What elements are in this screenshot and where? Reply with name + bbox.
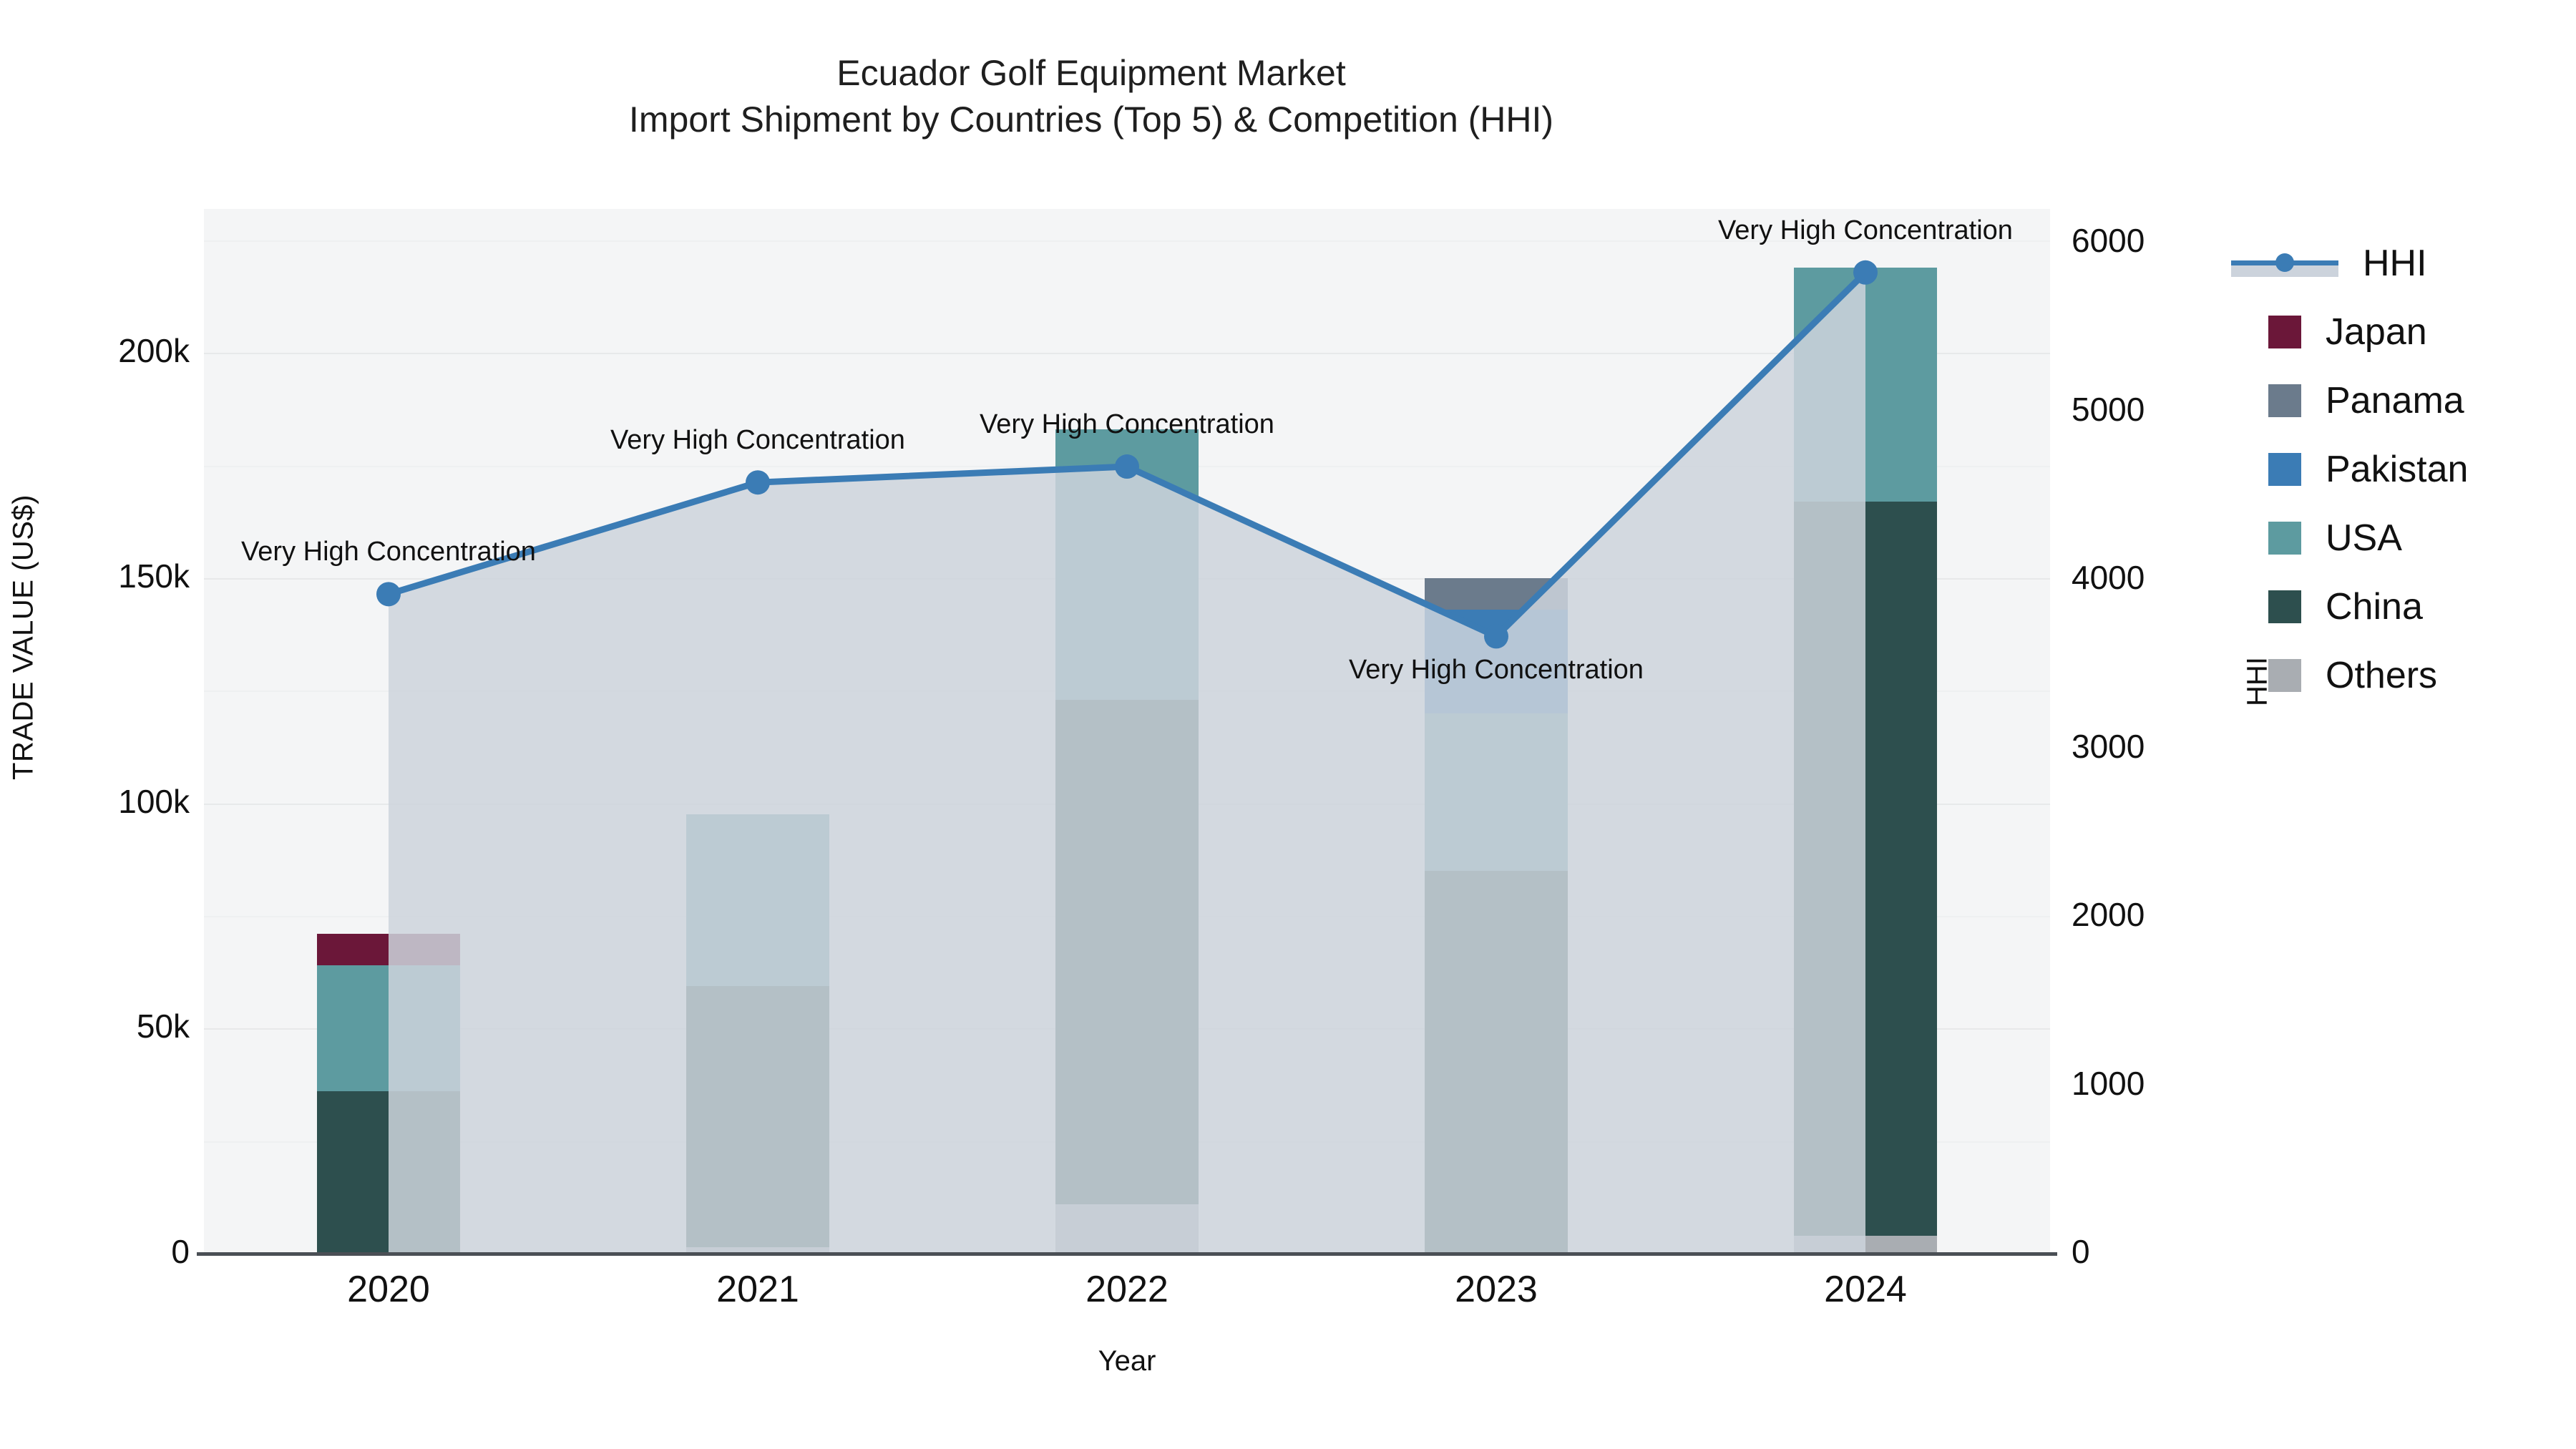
chart-title-line-1: Ecuador Golf Equipment Market	[836, 53, 1345, 93]
legend-color-swatch	[2268, 522, 2301, 555]
y-axis-tick-label: 200k	[0, 331, 190, 370]
legend-color-swatch	[2268, 453, 2301, 486]
y2-axis-tick-label: 0	[2072, 1232, 2286, 1271]
hhi-series-layer	[204, 209, 2050, 1254]
legend-color-swatch	[2268, 659, 2301, 692]
x-axis-tick-label: 2020	[245, 1268, 532, 1311]
x-axis-tick-label: 2021	[615, 1268, 901, 1311]
y2-axis-tick-label: 2000	[2072, 895, 2286, 934]
legend-item-pakistan[interactable]: Pakistan	[2268, 435, 2576, 504]
y-axis-tick-label: 50k	[0, 1007, 190, 1045]
annotation-concentration-label: Very High Concentration	[1718, 215, 2013, 246]
annotation-concentration-label: Very High Concentration	[980, 409, 1274, 440]
legend-item-japan[interactable]: Japan	[2268, 298, 2576, 366]
legend-item-label: Japan	[2326, 311, 2427, 353]
legend-color-swatch	[2268, 384, 2301, 417]
legend-item-label: Others	[2326, 654, 2437, 697]
legend-color-swatch	[2268, 590, 2301, 623]
hhi-marker[interactable]	[376, 582, 401, 606]
legend-item-label: China	[2326, 585, 2423, 628]
chart-title-line-2: Import Shipment by Countries (Top 5) & C…	[629, 99, 1553, 140]
x-axis-title: Year	[204, 1345, 2050, 1377]
x-axis-line	[197, 1252, 2057, 1256]
legend-item-label: USA	[2326, 517, 2402, 560]
x-axis-tick-label: 2022	[984, 1268, 1270, 1311]
hhi-marker[interactable]	[1853, 260, 1878, 285]
legend-item-panama[interactable]: Panama	[2268, 366, 2576, 435]
y-axis-tick-label: 0	[0, 1232, 190, 1271]
legend-item-label: Pakistan	[2326, 448, 2468, 491]
x-axis-tick-label: 2024	[1722, 1268, 2009, 1311]
legend: HHIJapanPanamaPakistanUSAChinaOthers	[2268, 229, 2576, 710]
y2-axis-tick-label: 4000	[2072, 558, 2286, 597]
legend-item-others[interactable]: Others	[2268, 641, 2576, 710]
hhi-marker[interactable]	[1115, 454, 1139, 479]
legend-item-label: Panama	[2326, 379, 2464, 422]
legend-line-icon	[2231, 247, 2338, 280]
annotation-concentration-label: Very High Concentration	[610, 425, 905, 456]
legend-line-dot-icon	[2275, 253, 2294, 272]
legend-color-swatch	[2268, 316, 2301, 348]
annotation-concentration-label: Very High Concentration	[241, 537, 536, 567]
chart-title: Ecuador Golf Equipment MarketImport Ship…	[0, 50, 2182, 143]
legend-item-usa[interactable]: USA	[2268, 504, 2576, 572]
x-axis-tick-label: 2023	[1353, 1268, 1639, 1311]
legend-item-china[interactable]: China	[2268, 572, 2576, 641]
y-axis-title: TRADE VALUE (US$)	[8, 387, 40, 888]
annotation-concentration-label: Very High Concentration	[1349, 655, 1644, 686]
hhi-marker[interactable]	[1484, 624, 1508, 648]
y2-axis-tick-label: 1000	[2072, 1064, 2286, 1103]
legend-item-label: HHI	[2363, 242, 2427, 285]
legend-item-hhi[interactable]: HHI	[2268, 229, 2576, 298]
y2-axis-tick-label: 5000	[2072, 390, 2286, 429]
hhi-marker[interactable]	[746, 470, 770, 494]
